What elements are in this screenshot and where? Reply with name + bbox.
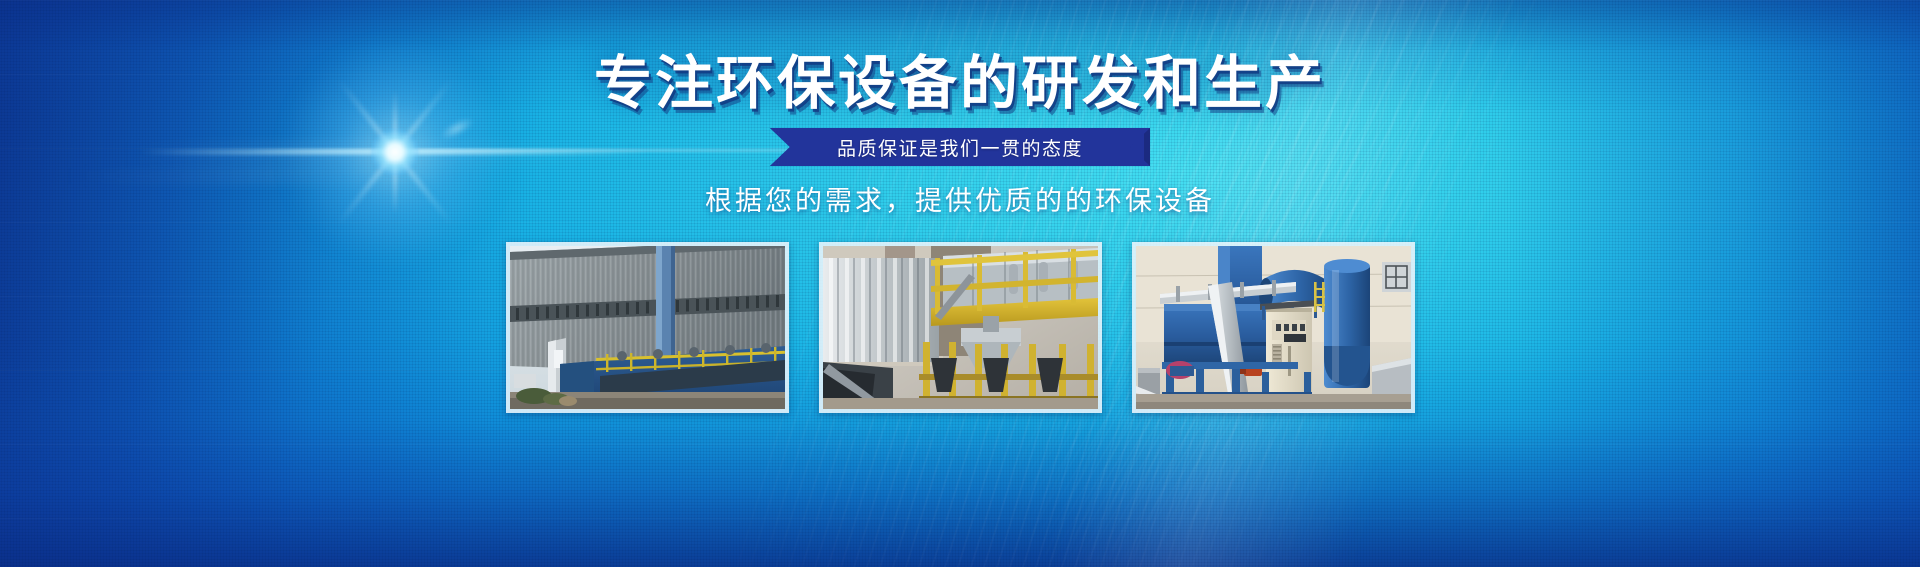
photo-frame-3 [1132,242,1415,413]
gallery-photo-2 [823,246,1098,409]
factory-building-image [510,246,785,409]
photo-frame-1 [506,242,789,413]
photo-frame-2 [819,242,1102,413]
blue-dust-collector-image [1136,246,1411,409]
gallery-photo-3 [1136,246,1411,409]
badge-left-notch-icon [754,128,776,166]
badge-right-notch-icon [1144,128,1166,166]
banner-badge-label: 品质保证是我们一贯的态度 [837,134,1083,161]
banner-subtitle: 根据您的需求，提供优质的的环保设备 [0,179,1920,218]
gallery-photo-1 [510,246,785,409]
banner-badge-wrapper: 品质保证是我们一贯的态度 [0,128,1920,166]
photo-gallery [0,242,1920,413]
hero-banner: 专注环保设备的研发和生产 品质保证是我们一贯的态度 根据您的需求，提供优质的的环… [0,0,1920,567]
banner-headline: 专注环保设备的研发和生产 [0,54,1920,115]
banner-content: 专注环保设备的研发和生产 品质保证是我们一贯的态度 根据您的需求，提供优质的的环… [0,0,1920,567]
equipment-platform-image [823,246,1098,409]
banner-badge: 品质保证是我们一贯的态度 [770,128,1150,166]
